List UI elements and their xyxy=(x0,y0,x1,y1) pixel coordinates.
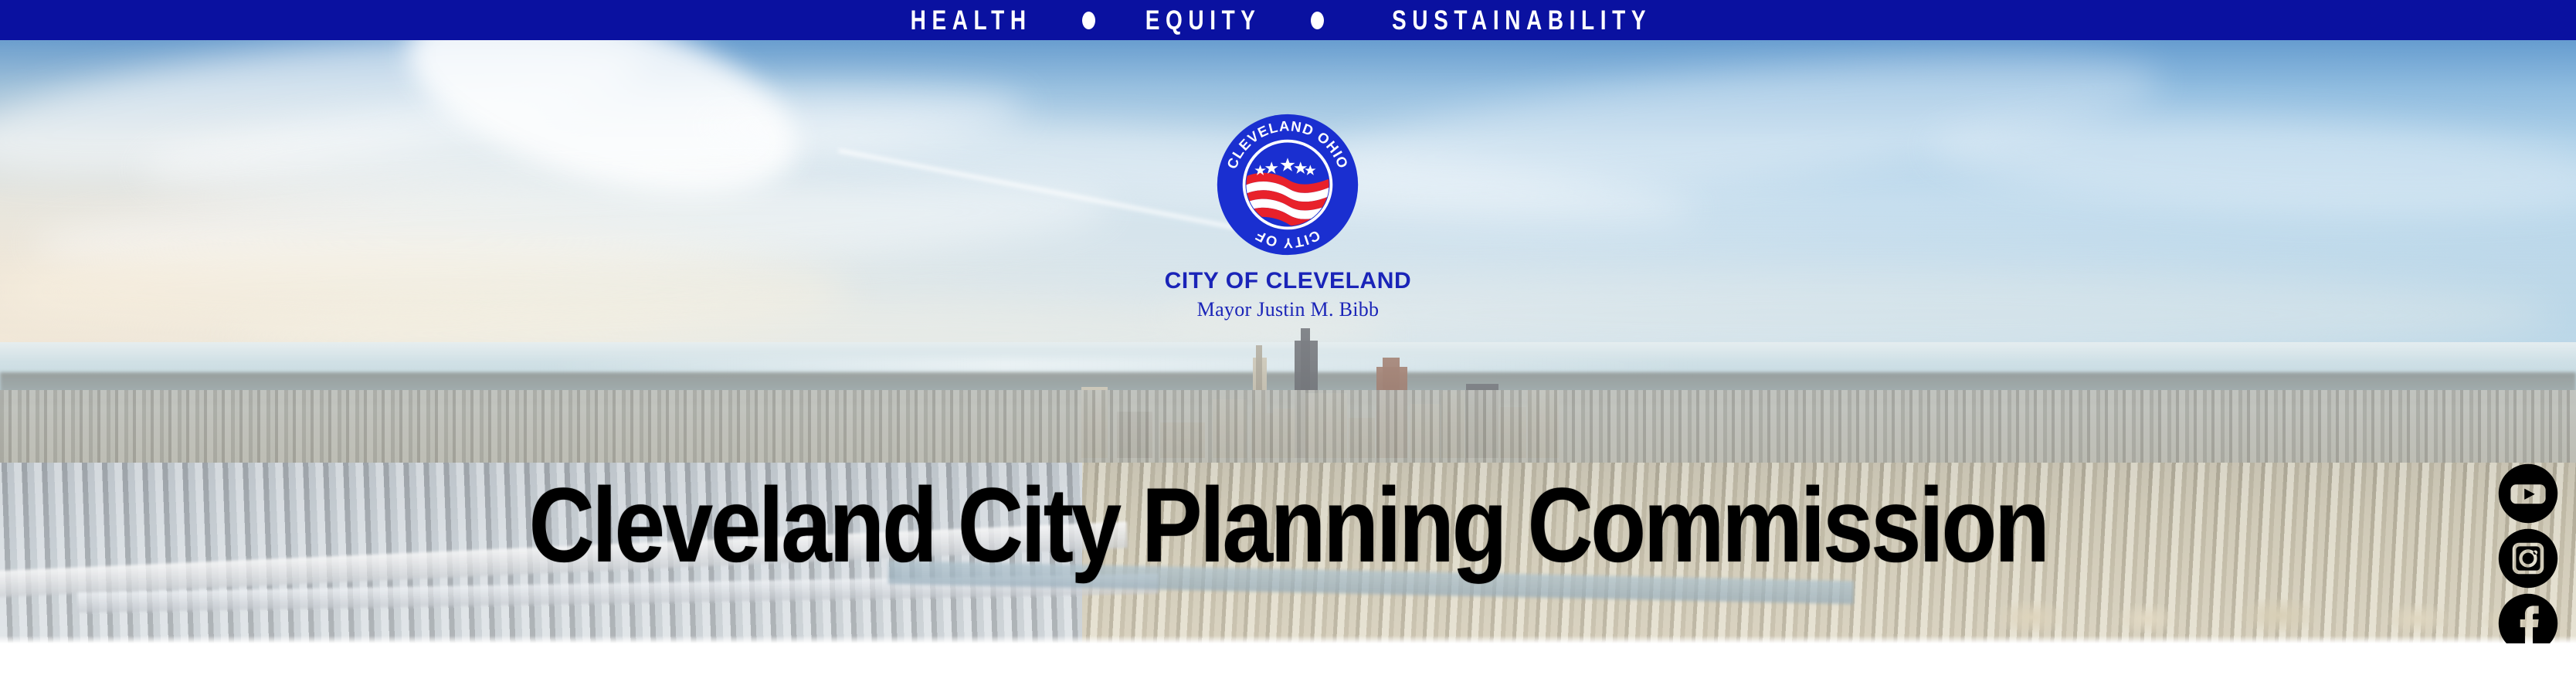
gravel-piles xyxy=(1970,571,2557,633)
tagline-word-health: HEALTH xyxy=(910,7,1031,34)
mayor-name: Mayor Justin M. Bibb xyxy=(0,297,2576,323)
tagline-word-equity: EQUITY xyxy=(1145,7,1261,34)
youtube-icon[interactable] xyxy=(2498,463,2558,524)
tagline-word-sustainability: SUSTAINABILITY xyxy=(1392,7,1651,34)
tagline-banner: HEALTH EQUITY SUSTAINABILITY xyxy=(0,0,2576,40)
city-of-cleveland-seal-icon: CLEVELAND OHIO CITY OF xyxy=(1215,112,1360,257)
org-name: CITY OF CLEVELAND xyxy=(0,268,2576,294)
organization-identity: CITY OF CLEVELAND Mayor Justin M. Bibb xyxy=(0,268,2576,322)
social-links xyxy=(2497,463,2559,643)
bullet-dot-icon xyxy=(1082,12,1095,29)
footer-whitespace xyxy=(0,643,2576,682)
facebook-icon[interactable] xyxy=(2498,593,2558,643)
instagram-icon[interactable] xyxy=(2498,528,2558,589)
photo-bottom-fade xyxy=(0,636,2576,643)
bullet-dot-icon xyxy=(1311,12,1324,29)
hero-photo: CLEVELAND OHIO CITY OF CITY OF CLEVELAND… xyxy=(0,40,2576,643)
city-seal: CLEVELAND OHIO CITY OF xyxy=(1215,112,1360,257)
page-root: HEALTH EQUITY SUSTAINABILITY xyxy=(0,0,2576,682)
page-title: Cleveland City Planning Commission xyxy=(0,473,2576,579)
